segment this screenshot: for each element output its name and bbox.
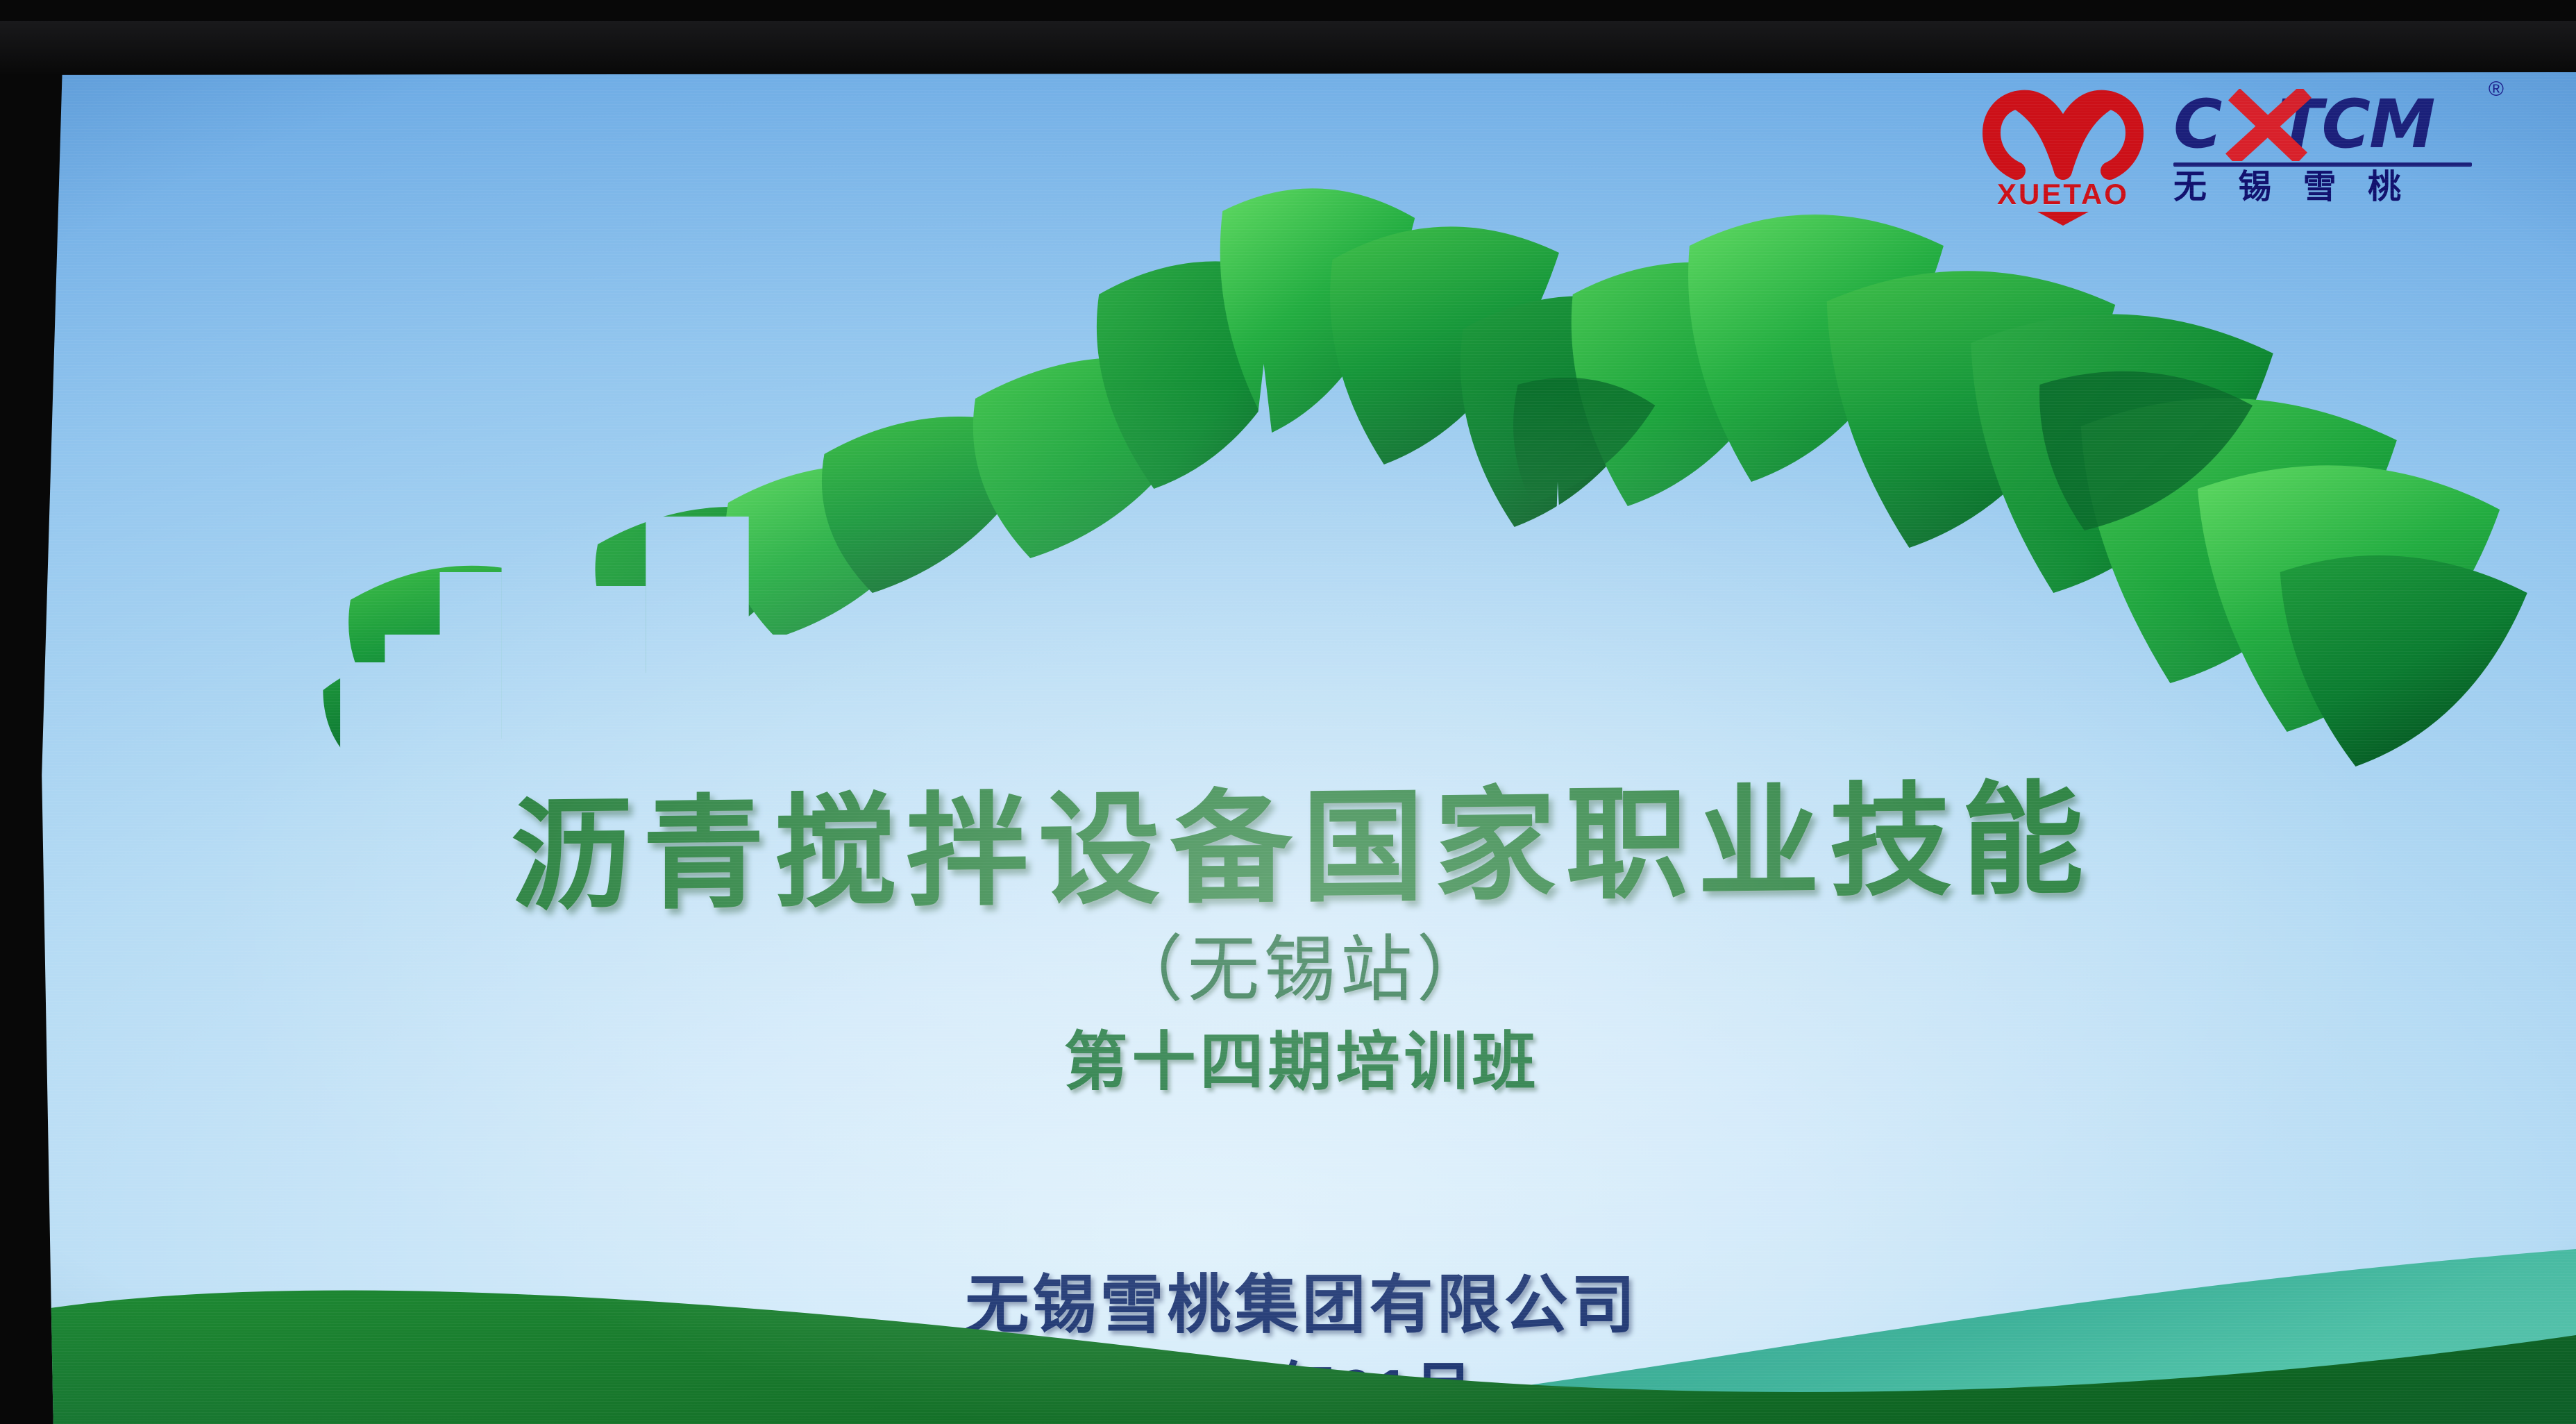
xuetao-wordmark: XUETAO: [1997, 180, 2129, 209]
svg-text:C: C: [2173, 89, 2222, 161]
slide-title-block: 沥青搅拌设备国家职业技能 （无锡站） 第十四期培训班: [28, 787, 2576, 1094]
page-title: 沥青搅拌设备国家职业技能: [28, 774, 2576, 923]
session-subtitle: 第十四期培训班: [28, 1030, 2576, 1094]
cxtcm-underline: [2173, 162, 2472, 167]
station-subtitle: （无锡站）: [28, 933, 2576, 1005]
cxtcm-logo: C TCM ® 无 锡 雪 桃: [2173, 89, 2500, 204]
television-bezel: XUETAO C TCM: [0, 0, 2576, 1424]
cxtcm-wordmark-graphic: C TCM ®: [2173, 89, 2500, 161]
cxtcm-chinese-name: 无 锡 雪 桃: [2173, 171, 2412, 204]
bottom-wave-decoration: [28, 1174, 2576, 1424]
xuetao-interlocking-mark-icon: [1976, 89, 2150, 183]
presentation-slide[interactable]: XUETAO C TCM: [28, 72, 2576, 1424]
leaf-cluster: [323, 188, 2527, 767]
logo-row: XUETAO C TCM: [1976, 89, 2500, 226]
registered-trademark-icon: ®: [2489, 78, 2504, 101]
cxtcm-letters-icon: C TCM: [2173, 89, 2500, 161]
xuetao-triangle-accent: [2037, 212, 2089, 226]
leaf-skyline-artwork: [28, 156, 2576, 780]
bezel-highlight: [0, 21, 2576, 76]
xuetao-logo: XUETAO: [1976, 89, 2150, 226]
